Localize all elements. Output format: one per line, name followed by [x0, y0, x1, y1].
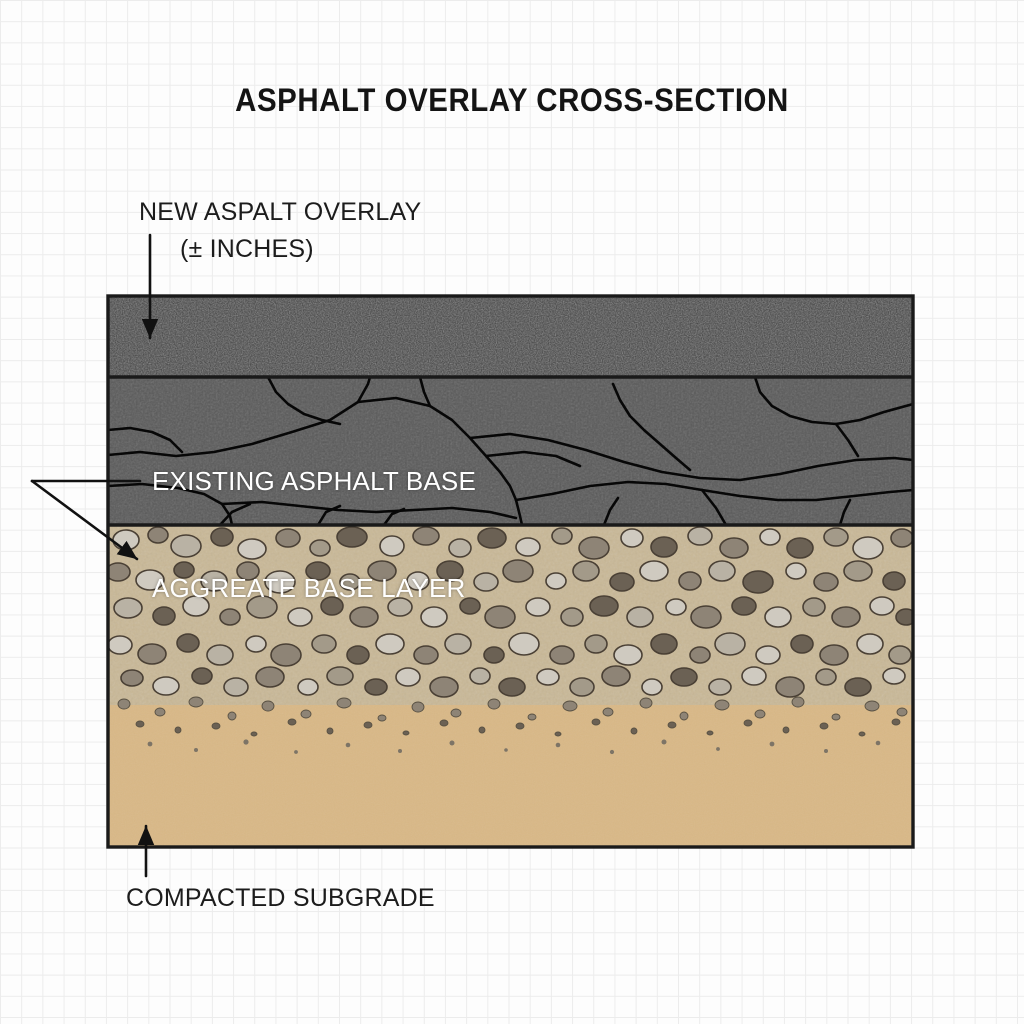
diagram-canvas: ASPHALT OVERLAY CROSS-SECTION: [0, 0, 1024, 1024]
label-new-asphalt-overlay: NEW ASPALT OVERLAY: [139, 198, 421, 227]
layer-new-asphalt-overlay: [108, 296, 913, 377]
label-new-asphalt-overlay-thickness: (± INCHES): [180, 235, 314, 264]
cross-section-diagram: [0, 0, 1024, 1024]
layer-aggregate-base: [106, 525, 916, 705]
label-compacted-subgrade: COMPACTED SUBGRADE: [126, 884, 435, 913]
label-aggregate-base-layer: AGGREATE BASE LAYER: [152, 573, 466, 604]
layer-existing-asphalt-base: [108, 377, 913, 525]
label-existing-asphalt-base: EXISTING ASPHALT BASE: [152, 466, 476, 497]
